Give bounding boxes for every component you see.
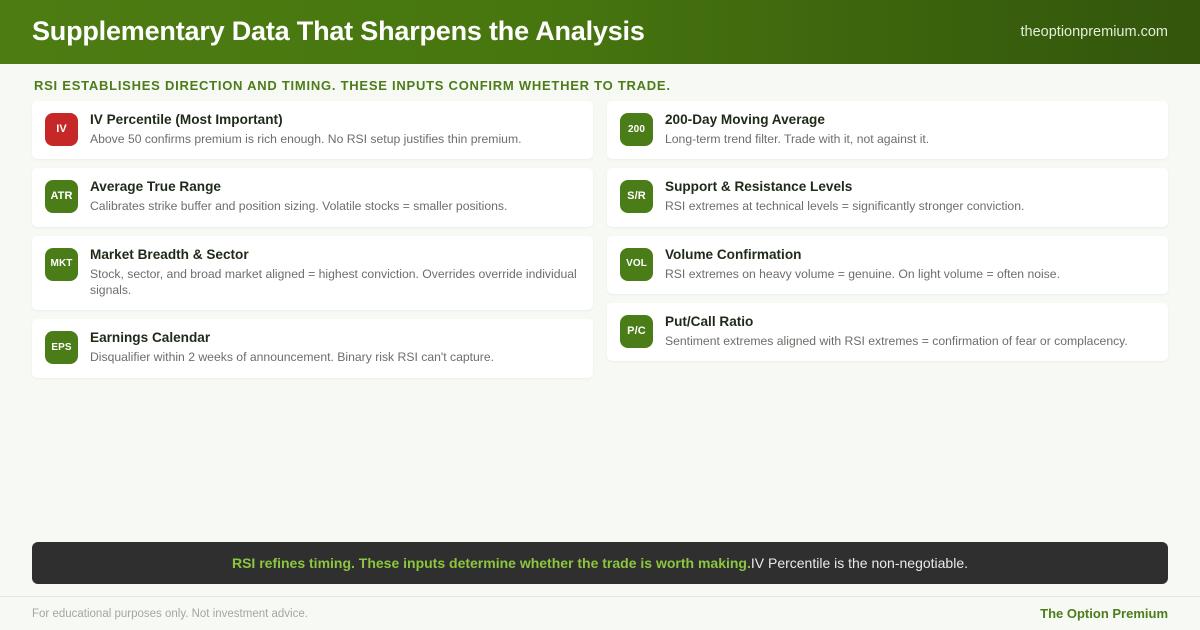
card-title: Volume Confirmation xyxy=(665,247,1154,264)
card-title: Average True Range xyxy=(90,179,579,196)
factor-card: 200 200-Day Moving Average Long-term tre… xyxy=(607,101,1168,159)
factor-card: S/R Support & Resistance Levels RSI extr… xyxy=(607,168,1168,226)
card-description: Long-term trend filter. Trade with it, n… xyxy=(665,131,1154,147)
callout-highlight-text: RSI refines timing. These inputs determi… xyxy=(232,555,751,571)
right-column: 200 200-Day Moving Average Long-term tre… xyxy=(607,101,1168,378)
card-title: Market Breadth & Sector xyxy=(90,247,579,264)
brand-name: The Option Premium xyxy=(1040,606,1168,621)
badge-sr-icon: S/R xyxy=(620,180,653,213)
badge-eps-icon: EPS xyxy=(45,331,78,364)
card-body: Market Breadth & Sector Stock, sector, a… xyxy=(90,247,579,299)
site-domain: theoptionpremium.com xyxy=(1021,24,1169,40)
infographic-page: Supplementary Data That Sharpens the Ana… xyxy=(0,0,1200,630)
card-body: 200-Day Moving Average Long-term trend f… xyxy=(665,112,1154,147)
card-body: Average True Range Calibrates strike buf… xyxy=(90,179,579,214)
card-description: Disqualifier within 2 weeks of announcem… xyxy=(90,349,579,365)
page-footer: For educational purposes only. Not inves… xyxy=(0,596,1200,630)
badge-iv-icon: IV xyxy=(45,113,78,146)
badge-200-icon: 200 xyxy=(620,113,653,146)
badge-pc-icon: P/C xyxy=(620,315,653,348)
disclaimer-text: For educational purposes only. Not inves… xyxy=(32,608,308,620)
card-description: Above 50 confirms premium is rich enough… xyxy=(90,131,579,147)
card-title: 200-Day Moving Average xyxy=(665,112,1154,129)
factor-card: EPS Earnings Calendar Disqualifier withi… xyxy=(32,319,593,377)
summary-callout: RSI refines timing. These inputs determi… xyxy=(32,542,1168,584)
card-body: IV Percentile (Most Important) Above 50 … xyxy=(90,112,579,147)
factor-card: IV IV Percentile (Most Important) Above … xyxy=(32,101,593,159)
card-body: Earnings Calendar Disqualifier within 2 … xyxy=(90,330,579,365)
badge-vol-icon: VOL xyxy=(620,248,653,281)
card-description: Calibrates strike buffer and position si… xyxy=(90,198,579,214)
badge-mkt-icon: MKT xyxy=(45,248,78,281)
section-subtitle: RSI ESTABLISHES DIRECTION AND TIMING. TH… xyxy=(0,64,1200,101)
vertical-spacer xyxy=(0,378,1200,542)
card-title: Put/Call Ratio xyxy=(665,314,1154,331)
card-title: Support & Resistance Levels xyxy=(665,179,1154,196)
callout-secondary-text: IV Percentile is the non-negotiable. xyxy=(751,555,968,571)
card-body: Volume Confirmation RSI extremes on heav… xyxy=(665,247,1154,282)
factor-card-grid: IV IV Percentile (Most Important) Above … xyxy=(0,101,1200,378)
left-column: IV IV Percentile (Most Important) Above … xyxy=(32,101,593,378)
badge-atr-icon: ATR xyxy=(45,180,78,213)
card-description: RSI extremes at technical levels = signi… xyxy=(665,198,1154,214)
factor-card: VOL Volume Confirmation RSI extremes on … xyxy=(607,236,1168,294)
callout-wrapper: RSI refines timing. These inputs determi… xyxy=(0,542,1200,584)
page-header: Supplementary Data That Sharpens the Ana… xyxy=(0,0,1200,64)
card-description: RSI extremes on heavy volume = genuine. … xyxy=(665,266,1154,282)
factor-card: MKT Market Breadth & Sector Stock, secto… xyxy=(32,236,593,311)
card-title: IV Percentile (Most Important) xyxy=(90,112,579,129)
factor-card: ATR Average True Range Calibrates strike… xyxy=(32,168,593,226)
card-title: Earnings Calendar xyxy=(90,330,579,347)
card-description: Stock, sector, and broad market aligned … xyxy=(90,266,579,299)
card-body: Put/Call Ratio Sentiment extremes aligne… xyxy=(665,314,1154,349)
page-title: Supplementary Data That Sharpens the Ana… xyxy=(32,17,645,47)
card-description: Sentiment extremes aligned with RSI extr… xyxy=(665,333,1154,349)
factor-card: P/C Put/Call Ratio Sentiment extremes al… xyxy=(607,303,1168,361)
card-body: Support & Resistance Levels RSI extremes… xyxy=(665,179,1154,214)
